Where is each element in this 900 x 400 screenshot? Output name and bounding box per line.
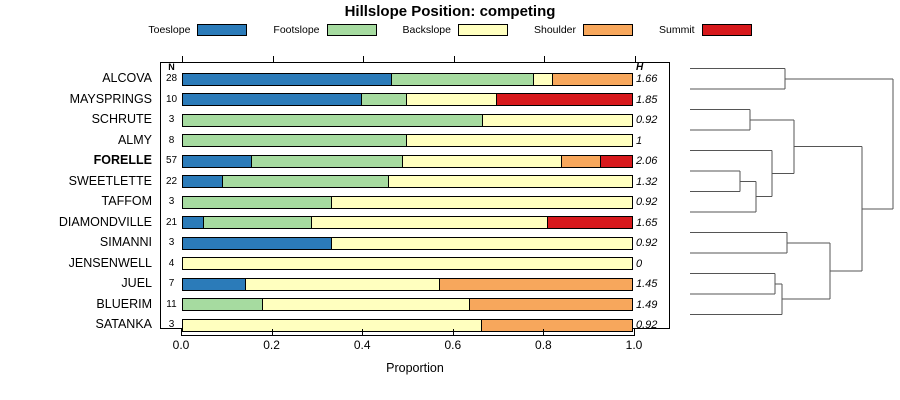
bar-segment-backslope[interactable] <box>331 196 633 209</box>
bar-segment-footslope[interactable] <box>182 114 483 127</box>
n-value: 3 <box>161 233 182 254</box>
x-axis-tick-label: 0.0 <box>173 338 190 352</box>
n-value: 10 <box>161 90 182 111</box>
bar-segment-footslope[interactable] <box>203 216 313 229</box>
legend-item-label: Shoulder <box>534 24 576 36</box>
bar-segment-footslope[interactable] <box>182 298 264 311</box>
bar-segment-backslope[interactable] <box>331 237 633 250</box>
bar-segment-backslope[interactable] <box>245 278 440 291</box>
category-label: FORELLE <box>0 150 160 171</box>
category-label: SCHRUTE <box>0 109 160 130</box>
x-axis-tick-label: 0.2 <box>263 338 280 352</box>
legend-swatch-summit <box>702 24 752 36</box>
bar-row <box>182 131 633 152</box>
stacked-bar[interactable] <box>182 196 633 209</box>
category-label: SIMANNI <box>0 232 160 253</box>
bar-segment-backslope[interactable] <box>388 175 633 188</box>
legend-item-shoulder[interactable]: Shoulder <box>534 24 633 36</box>
x-axis-tick-label: 1.0 <box>626 338 643 352</box>
bar-segment-toeslope[interactable] <box>182 73 392 86</box>
h-value: 0.92 <box>636 110 669 131</box>
n-value: 8 <box>161 131 182 152</box>
bar-segment-toeslope[interactable] <box>182 175 223 188</box>
x-axis-tick <box>181 329 182 336</box>
category-label: ALMY <box>0 130 160 151</box>
h-value: 1.85 <box>636 90 669 111</box>
n-value: 11 <box>161 295 182 316</box>
legend-item-summit[interactable]: Summit <box>659 24 752 36</box>
stacked-bar[interactable] <box>182 93 633 106</box>
category-label: JUEL <box>0 273 160 294</box>
category-label: TAFFOM <box>0 191 160 212</box>
bar-row <box>182 274 633 295</box>
bar-segment-backslope[interactable] <box>533 73 553 86</box>
top-axis-tick <box>544 56 545 63</box>
bar-row <box>182 172 633 193</box>
bar-segment-toeslope[interactable] <box>182 155 253 168</box>
stacked-bar[interactable] <box>182 155 633 168</box>
bar-segment-footslope[interactable] <box>391 73 535 86</box>
x-axis-tick <box>272 329 273 336</box>
legend-swatch-shoulder <box>583 24 633 36</box>
bar-row <box>182 213 633 234</box>
stacked-bar[interactable] <box>182 216 633 229</box>
bar-segment-backslope[interactable] <box>402 155 563 168</box>
bar-row <box>182 295 633 316</box>
bar-segment-footslope[interactable] <box>182 196 332 209</box>
bar-segment-backslope[interactable] <box>406 93 497 106</box>
x-axis-tick-label: 0.4 <box>354 338 371 352</box>
bar-segment-backslope[interactable] <box>182 257 633 270</box>
stacked-bar[interactable] <box>182 134 633 147</box>
category-label: JENSENWELL <box>0 253 160 274</box>
bar-segment-summit[interactable] <box>496 93 633 106</box>
legend-item-toeslope[interactable]: Toeslope <box>148 24 247 36</box>
category-label: SATANKA <box>0 314 160 335</box>
stacked-bar[interactable] <box>182 73 633 86</box>
x-axis-tick <box>543 329 544 336</box>
n-value: 7 <box>161 274 182 295</box>
legend-item-label: Footslope <box>273 24 319 36</box>
x-axis-tick-label: 0.6 <box>444 338 461 352</box>
legend-swatch-backslope <box>458 24 508 36</box>
bar-row <box>182 192 633 213</box>
legend-item-label: Backslope <box>403 24 451 36</box>
h-value: 0.92 <box>636 233 669 254</box>
legend-item-footslope[interactable]: Footslope <box>273 24 376 36</box>
x-axis-tick <box>634 329 635 336</box>
legend-swatch-footslope <box>327 24 377 36</box>
category-label: MAYSPRINGS <box>0 89 160 110</box>
stacked-bar[interactable] <box>182 257 633 270</box>
legend: ToeslopeFootslopeBackslopeShoulderSummit <box>0 24 900 36</box>
bar-segment-footslope[interactable] <box>251 155 402 168</box>
h-value: 1.45 <box>636 274 669 295</box>
h-value: 1.66 <box>636 69 669 90</box>
h-value: 0 <box>636 254 669 275</box>
plot-panel: N 2810385722321347113 H 1.661.850.9212.0… <box>160 62 670 329</box>
n-value: 3 <box>161 110 182 131</box>
category-label: BLUERIM <box>0 294 160 315</box>
x-axis-tick <box>362 329 363 336</box>
top-axis-tick <box>635 56 636 63</box>
h-value: 2.06 <box>636 151 669 172</box>
bar-row <box>182 233 633 254</box>
bar-segment-backslope[interactable] <box>482 114 633 127</box>
bar-row <box>182 254 633 275</box>
bar-segment-toeslope[interactable] <box>182 237 332 250</box>
bar-segment-backslope[interactable] <box>262 298 469 311</box>
h-value: 1.49 <box>636 295 669 316</box>
top-axis-tick <box>454 56 455 63</box>
n-value: 21 <box>161 213 182 234</box>
top-axis-tick <box>182 56 183 63</box>
h-value: 1 <box>636 131 669 152</box>
x-axis: 0.00.20.40.60.81.0 Proportion <box>160 329 670 379</box>
h-column: H 1.661.850.9212.061.320.921.650.9201.45… <box>633 63 669 328</box>
h-value: 0.92 <box>636 192 669 213</box>
bar-segment-footslope[interactable] <box>182 134 408 147</box>
bar-row <box>182 90 633 111</box>
bar-segment-summit[interactable] <box>600 155 633 168</box>
page-title: Hillslope Position: competing <box>0 3 900 20</box>
n-value: 57 <box>161 151 182 172</box>
n-value: 22 <box>161 172 182 193</box>
stacked-bar[interactable] <box>182 237 633 250</box>
bar-segment-shoulder[interactable] <box>439 278 633 291</box>
top-axis-tick <box>363 56 364 63</box>
bar-segment-toeslope[interactable] <box>182 216 204 229</box>
bar-segment-backslope[interactable] <box>311 216 549 229</box>
bar-row <box>182 151 633 172</box>
stacked-bar[interactable] <box>182 175 633 188</box>
n-value: 4 <box>161 254 182 275</box>
bar-segment-shoulder[interactable] <box>469 298 633 311</box>
top-axis-tick <box>273 56 274 63</box>
dendrogram-svg <box>690 60 900 330</box>
x-axis-tick-label: 0.8 <box>535 338 552 352</box>
legend-item-label: Summit <box>659 24 695 36</box>
x-axis-tick <box>453 329 454 336</box>
bar-segment-shoulder[interactable] <box>561 155 601 168</box>
stacked-bar[interactable] <box>182 114 633 127</box>
category-label-list: ALCOVAMAYSPRINGSSCHRUTEALMYFORELLESWEETL… <box>0 68 160 335</box>
bar-segment-footslope[interactable] <box>222 175 389 188</box>
stacked-bar[interactable] <box>182 278 633 291</box>
n-value: 3 <box>161 192 182 213</box>
category-label: ALCOVA <box>0 68 160 89</box>
bar-segment-backslope[interactable] <box>406 134 633 147</box>
h-value: 1.65 <box>636 213 669 234</box>
legend-swatch-toeslope <box>197 24 247 36</box>
axis-line <box>181 335 634 336</box>
category-label: SWEETLETTE <box>0 171 160 192</box>
category-label: DIAMONDVILLE <box>0 212 160 233</box>
bar-segment-footslope[interactable] <box>361 93 408 106</box>
h-value: 1.32 <box>636 172 669 193</box>
n-value: 28 <box>161 69 182 90</box>
legend-item-label: Toeslope <box>148 24 190 36</box>
dendrogram <box>690 60 900 330</box>
bar-segment-summit[interactable] <box>547 216 633 229</box>
n-column: N 2810385722321347113 <box>161 63 182 328</box>
bar-row <box>182 69 633 90</box>
x-axis-label: Proportion <box>160 361 670 375</box>
bar-row <box>182 110 633 131</box>
bar-segment-toeslope[interactable] <box>182 93 362 106</box>
bars-area <box>182 63 633 328</box>
legend-item-backslope[interactable]: Backslope <box>403 24 508 36</box>
stacked-bar[interactable] <box>182 298 633 311</box>
bar-segment-toeslope[interactable] <box>182 278 246 291</box>
bar-segment-shoulder[interactable] <box>552 73 633 86</box>
